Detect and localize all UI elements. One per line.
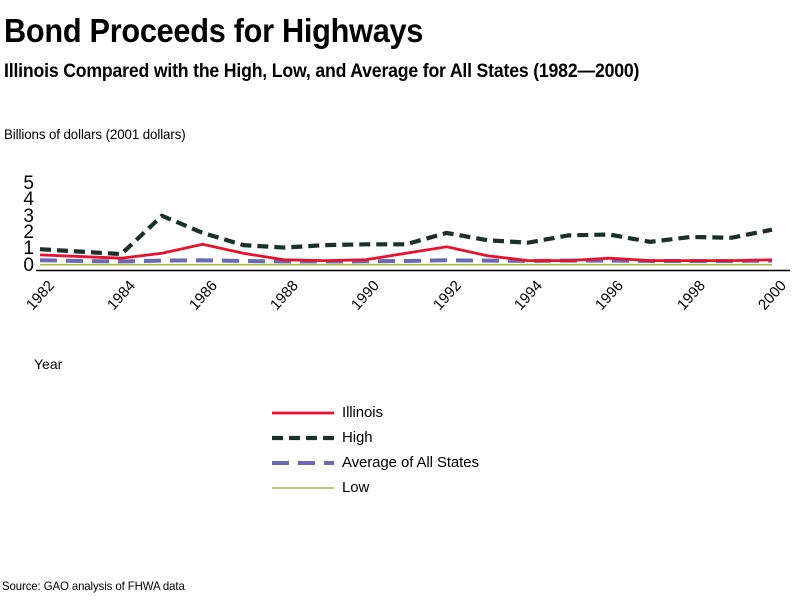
series-line-illinois bbox=[40, 244, 772, 260]
plot-area: 012345 198219841986198819901992199419961… bbox=[0, 0, 800, 340]
legend-label-low: Low bbox=[342, 479, 369, 496]
legend-label-illinois: Illinois bbox=[342, 404, 383, 421]
legend-swatch-illinois-icon bbox=[272, 406, 334, 420]
y-axis-tick-5: 5 bbox=[8, 174, 34, 193]
chart-legend: IllinoisHighAverage of All StatesLow bbox=[272, 400, 479, 500]
x-axis-title: Year bbox=[34, 356, 62, 372]
legend-item-low[interactable]: Low bbox=[272, 475, 479, 500]
legend-item-average[interactable]: Average of All States bbox=[272, 450, 479, 475]
source-note: Source: GAO analysis of FHWA data bbox=[2, 579, 185, 593]
legend-item-high[interactable]: High bbox=[272, 425, 479, 450]
legend-label-high: High bbox=[342, 429, 372, 446]
legend-swatch-low-icon bbox=[272, 481, 334, 495]
legend-swatch-average-icon bbox=[272, 456, 334, 470]
legend-label-average: Average of All States bbox=[342, 454, 479, 471]
series-line-high bbox=[40, 216, 772, 254]
legend-item-illinois[interactable]: Illinois bbox=[272, 400, 479, 425]
chart-figure: Bond Proceeds for Highways Illinois Comp… bbox=[0, 0, 800, 600]
legend-swatch-high-icon bbox=[272, 431, 334, 445]
